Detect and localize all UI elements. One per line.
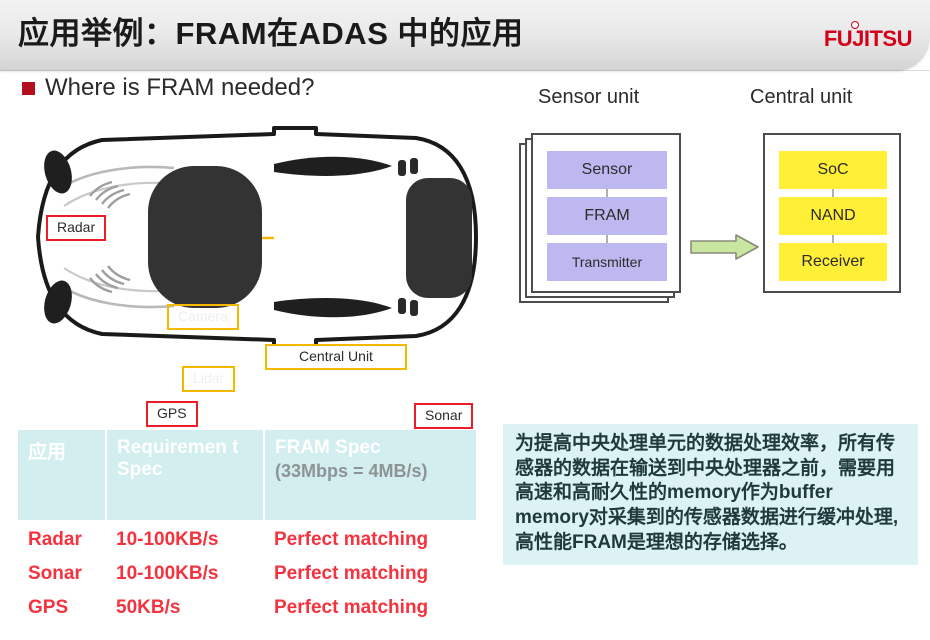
spec-table: 应用 Requiremen t Spec FRAM Spec (33Mbps =… xyxy=(18,430,476,625)
column-header-requirement-text: Requiremen t Spec xyxy=(117,437,238,480)
car-label-camera[interactable]: Camera xyxy=(167,304,239,330)
connector-fram-transmitter xyxy=(606,235,608,243)
bullet-text: Where is FRAM needed? xyxy=(45,74,314,102)
block-nand: NAND xyxy=(779,197,887,235)
table-header-row: 应用 Requiremen t Spec FRAM Spec (33Mbps =… xyxy=(18,430,476,520)
column-header-fram-spec: FRAM Spec (33Mbps = 4MB/s) xyxy=(264,430,476,520)
cell-application: Sonar xyxy=(18,557,106,591)
cell-application: Radar xyxy=(18,520,106,557)
explanation-note-panel: 为提高中央处理单元的数据处理效率，所有传感器的数据在输送到中央处理器之前，需要用… xyxy=(503,424,918,565)
block-transmitter: Transmitter xyxy=(547,243,667,281)
table-row: Radar 10-100KB/s Perfect matching xyxy=(18,520,476,557)
column-header-fram-spec-text: FRAM Spec xyxy=(275,437,381,458)
cell-fram-spec: Perfect matching xyxy=(264,591,476,625)
cell-requirement: 10-100KB/s xyxy=(106,557,264,591)
table-row: Sonar 10-100KB/s Perfect matching xyxy=(18,557,476,591)
connector-soc-nand xyxy=(832,189,834,197)
cell-application: GPS xyxy=(18,591,106,625)
page-title: 应用举例：FRAM在ADAS 中的应用 xyxy=(18,8,523,53)
spec-table-element: 应用 Requiremen t Spec FRAM Spec (33Mbps =… xyxy=(18,430,476,625)
central-unit-caption: Central unit xyxy=(750,86,852,109)
connector-sensor-fram xyxy=(606,189,608,197)
fujitsu-logo-dot-icon xyxy=(851,21,859,29)
block-fram: FRAM xyxy=(547,197,667,235)
data-flow-arrow-icon xyxy=(690,234,760,260)
cell-fram-spec: Perfect matching xyxy=(264,520,476,557)
car-label-radar[interactable]: Radar xyxy=(46,215,106,241)
car-label-lidar[interactable]: Lidar xyxy=(182,366,235,392)
block-receiver: Receiver xyxy=(779,243,887,281)
car-label-sonar[interactable]: Sonar xyxy=(414,403,473,429)
table-row: GPS 50KB/s Perfect matching xyxy=(18,591,476,625)
car-label-gps[interactable]: GPS xyxy=(146,401,198,427)
central-unit-card: SoC NAND Receiver xyxy=(763,133,901,293)
connector-nand-receiver xyxy=(832,235,834,243)
fujitsu-logo: FUJITSU xyxy=(824,26,912,52)
block-sensor: Sensor xyxy=(547,151,667,189)
car-label-central-unit[interactable]: Central Unit xyxy=(265,344,407,370)
slide-header-band: 应用举例：FRAM在ADAS 中的应用 FUJITSU xyxy=(0,0,930,71)
cell-requirement: 10-100KB/s xyxy=(106,520,264,557)
column-header-requirement: Requiremen t Spec xyxy=(106,430,264,520)
section-bullet: Where is FRAM needed? xyxy=(22,74,314,102)
fujitsu-logo-text: FUJITSU xyxy=(824,26,912,51)
sensor-unit-card: Sensor FRAM Transmitter xyxy=(531,133,681,293)
explanation-note-text: 为提高中央处理单元的数据处理效率，所有传感器的数据在输送到中央处理器之前，需要用… xyxy=(515,432,908,555)
sensor-unit-caption: Sensor unit xyxy=(538,86,639,109)
car-cabin-area xyxy=(148,166,262,308)
column-header-application: 应用 xyxy=(18,430,106,520)
cell-requirement: 50KB/s xyxy=(106,591,264,625)
sensor-central-block-diagram: Sensor unit Central unit Sensor FRAM Tra… xyxy=(505,86,925,336)
cell-fram-spec: Perfect matching xyxy=(264,557,476,591)
column-header-application-text: 应用 xyxy=(28,442,66,463)
column-header-fram-spec-sub: (33Mbps = 4MB/s) xyxy=(275,461,468,483)
block-soc: SoC xyxy=(779,151,887,189)
car-top-view-figure: Radar GPS Camera Lidar Central Unit Sona… xyxy=(24,126,494,348)
bullet-square-icon xyxy=(22,82,35,95)
